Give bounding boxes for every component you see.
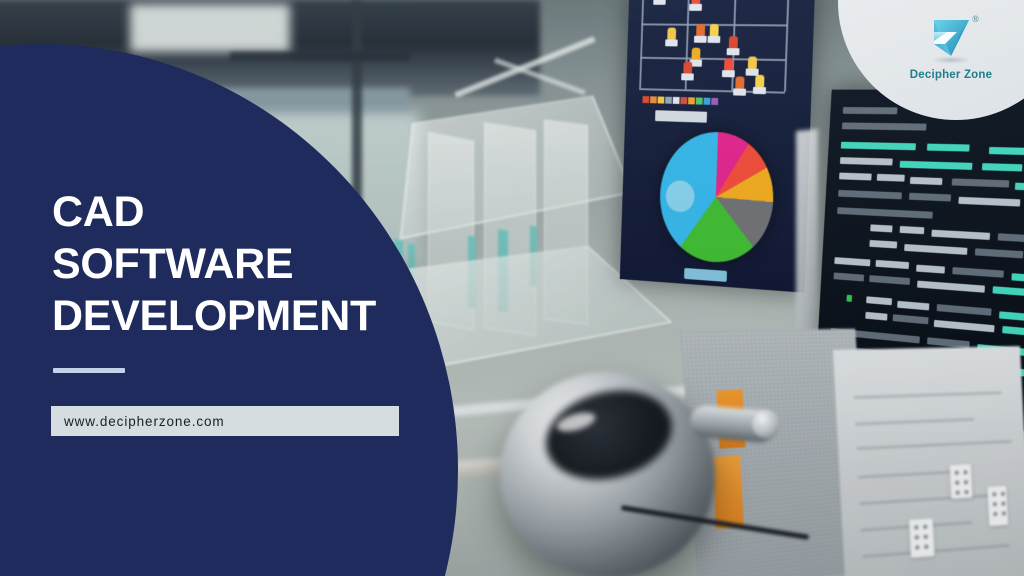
code-line: [840, 157, 893, 165]
connector-block: [950, 464, 973, 499]
connector-block: [909, 518, 935, 558]
code-line: [866, 296, 892, 305]
website-url-bar[interactable]: www.decipherzone.com: [51, 406, 399, 436]
sphere-stem-tip: [752, 410, 780, 438]
decipher-zone-triangle-play-logo-icon: ®: [925, 14, 977, 64]
code-line: [900, 226, 925, 234]
code-line: [837, 207, 933, 219]
connector-pin: [963, 470, 967, 474]
code-line: [865, 312, 887, 321]
panel-line: [858, 471, 954, 478]
dashboard-monitor: [620, 0, 815, 293]
legend-chip: [688, 97, 695, 104]
headline-line-3: DEVELOPMENT: [52, 290, 412, 342]
code-line: [927, 144, 970, 152]
connector-pin: [956, 491, 960, 495]
connector-pin: [964, 490, 968, 494]
connector-pin: [964, 480, 968, 484]
panel-line: [862, 544, 1009, 557]
legend-chip: [680, 97, 687, 104]
connector-pin: [915, 535, 919, 539]
flowchart-node: [683, 61, 692, 73]
code-line: [999, 311, 1024, 322]
panel-line: [857, 440, 1012, 449]
wall-pane: [130, 4, 290, 52]
connector-pin: [914, 525, 918, 529]
dashboard-action-button: [684, 268, 727, 282]
code-line: [917, 281, 985, 293]
code-line: [838, 190, 902, 199]
code-line: [893, 314, 929, 324]
code-line: [931, 230, 990, 240]
page-title: CAD SOFTWARE DEVELOPMENT: [52, 186, 412, 342]
connector-pin: [924, 535, 928, 539]
equipment-panel: [833, 346, 1024, 576]
connector-pin: [1001, 502, 1005, 506]
legend-chip: [696, 97, 703, 104]
title-divider: [53, 368, 125, 373]
code-line: [982, 163, 1023, 171]
flowchart-vline: [639, 0, 644, 88]
code-line: [876, 260, 910, 269]
connector-pin: [915, 545, 919, 549]
code-line: [900, 161, 973, 170]
code-line: [841, 142, 916, 151]
headline-line-2: SOFTWARE: [52, 238, 412, 290]
connector-pin: [993, 512, 997, 516]
registered-trademark-icon: ®: [972, 14, 979, 24]
connector-pin: [955, 471, 959, 475]
code-line: [869, 275, 910, 285]
flowchart-grid: [639, 0, 788, 94]
panel-line: [854, 392, 1002, 399]
code-line: [877, 174, 905, 182]
code-line: [909, 193, 951, 202]
flowchart-node: [667, 28, 676, 40]
code-line: [992, 286, 1024, 297]
panel-line: [860, 494, 998, 505]
connector-pin: [955, 481, 959, 485]
legend-chip: [673, 97, 680, 104]
code-line: [952, 178, 1010, 187]
legend-chip: [703, 98, 710, 105]
code-line: [870, 224, 892, 232]
brand-logo-name: Decipher Zone: [910, 69, 992, 81]
flowchart-hline: [640, 57, 786, 61]
code-line: [934, 320, 995, 332]
connector-pin: [1002, 511, 1006, 515]
legend-chip: [711, 98, 718, 105]
code-line: [998, 233, 1024, 243]
code-line: [1015, 183, 1024, 192]
code-line: [989, 147, 1024, 155]
flowchart-node: [735, 76, 744, 88]
chart-title-chip: [655, 110, 707, 123]
legend-bar: [642, 96, 718, 105]
connector-pin: [923, 525, 927, 529]
flowchart-node: [729, 36, 738, 48]
code-line: [958, 197, 1020, 207]
flowchart-node: [691, 48, 700, 60]
flowchart-node: [724, 58, 733, 70]
flowchart-node: [748, 56, 757, 68]
website-url-text: www.decipherzone.com: [51, 414, 225, 429]
code-line: [975, 248, 1023, 258]
code-line: [1002, 326, 1024, 336]
code-line: [839, 173, 872, 181]
banner-canvas: CAD SOFTWARE DEVELOPMENT www.decipherzon…: [0, 0, 1024, 576]
connector-block: [987, 486, 1008, 526]
connector-pin: [1001, 492, 1005, 496]
code-line: [846, 295, 852, 302]
legend-chip: [642, 96, 649, 103]
flowchart-node: [696, 24, 705, 36]
legend-chip: [665, 97, 672, 104]
code-line: [952, 267, 1004, 278]
code-line: [833, 272, 864, 281]
code-line: [842, 122, 927, 130]
flowchart-node: [710, 24, 719, 36]
headline-line-1: CAD: [52, 186, 412, 238]
orange-indicator-2: [712, 455, 744, 528]
flowchart-node: [755, 75, 764, 87]
code-line: [869, 240, 897, 249]
code-line: [910, 177, 943, 185]
legend-chip: [650, 96, 657, 103]
legend-chip: [658, 96, 665, 103]
code-line: [1011, 273, 1024, 283]
panel-line: [855, 418, 974, 425]
code-line: [916, 265, 945, 274]
code-line: [843, 107, 898, 114]
connector-pin: [924, 545, 928, 549]
code-line: [834, 257, 870, 266]
connector-pin: [993, 502, 997, 506]
flowchart-node: [691, 0, 700, 4]
brand-logo[interactable]: ® Decipher Zone: [886, 14, 1016, 100]
code-line: [904, 244, 967, 255]
flowchart-vline: [784, 0, 789, 92]
code-line: [897, 301, 929, 311]
code-line: [937, 304, 992, 316]
connector-pin: [992, 492, 996, 496]
